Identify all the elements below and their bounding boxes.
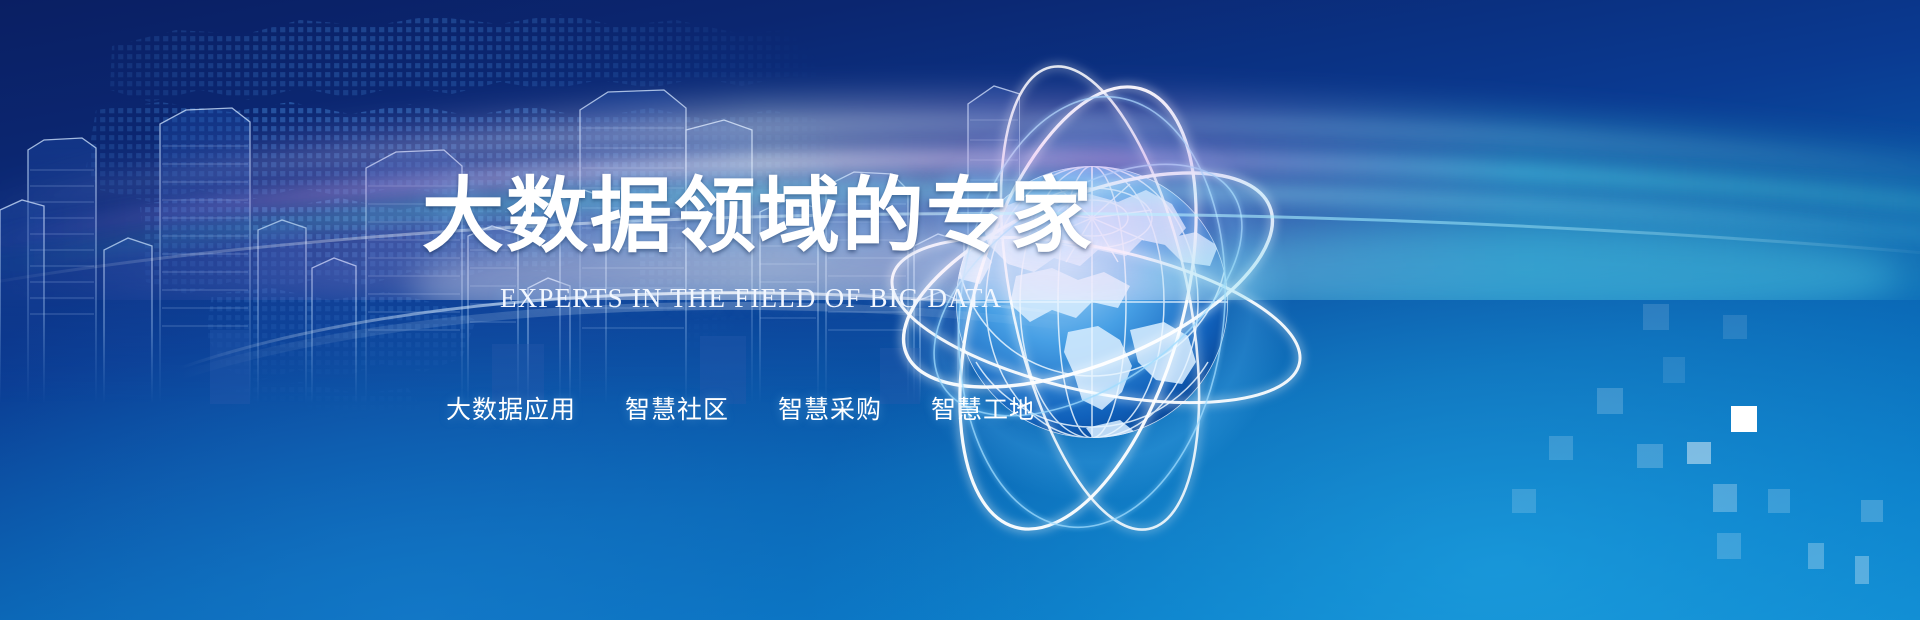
nav-item-bigdata-app[interactable]: 大数据应用	[446, 390, 576, 426]
page-subtitle: EXPERTS IN THE FIELD OF BIG DATA	[500, 283, 1002, 314]
nav-item-smart-community[interactable]: 智慧社区	[625, 390, 729, 426]
banner-hero: 大数据领域的专家 EXPERTS IN THE FIELD OF BIG DAT…	[0, 0, 1920, 620]
headline-block: 大数据领域的专家 EXPERTS IN THE FIELD OF BIG DAT…	[0, 0, 1100, 620]
nav-item-smart-purchase[interactable]: 智慧采购	[778, 390, 882, 426]
nav-item-smart-site[interactable]: 智慧工地	[931, 390, 1035, 426]
page-title: 大数据领域的专家	[422, 176, 1094, 258]
category-nav: 大数据应用 智慧社区 智慧采购 智慧工地	[446, 390, 1035, 426]
